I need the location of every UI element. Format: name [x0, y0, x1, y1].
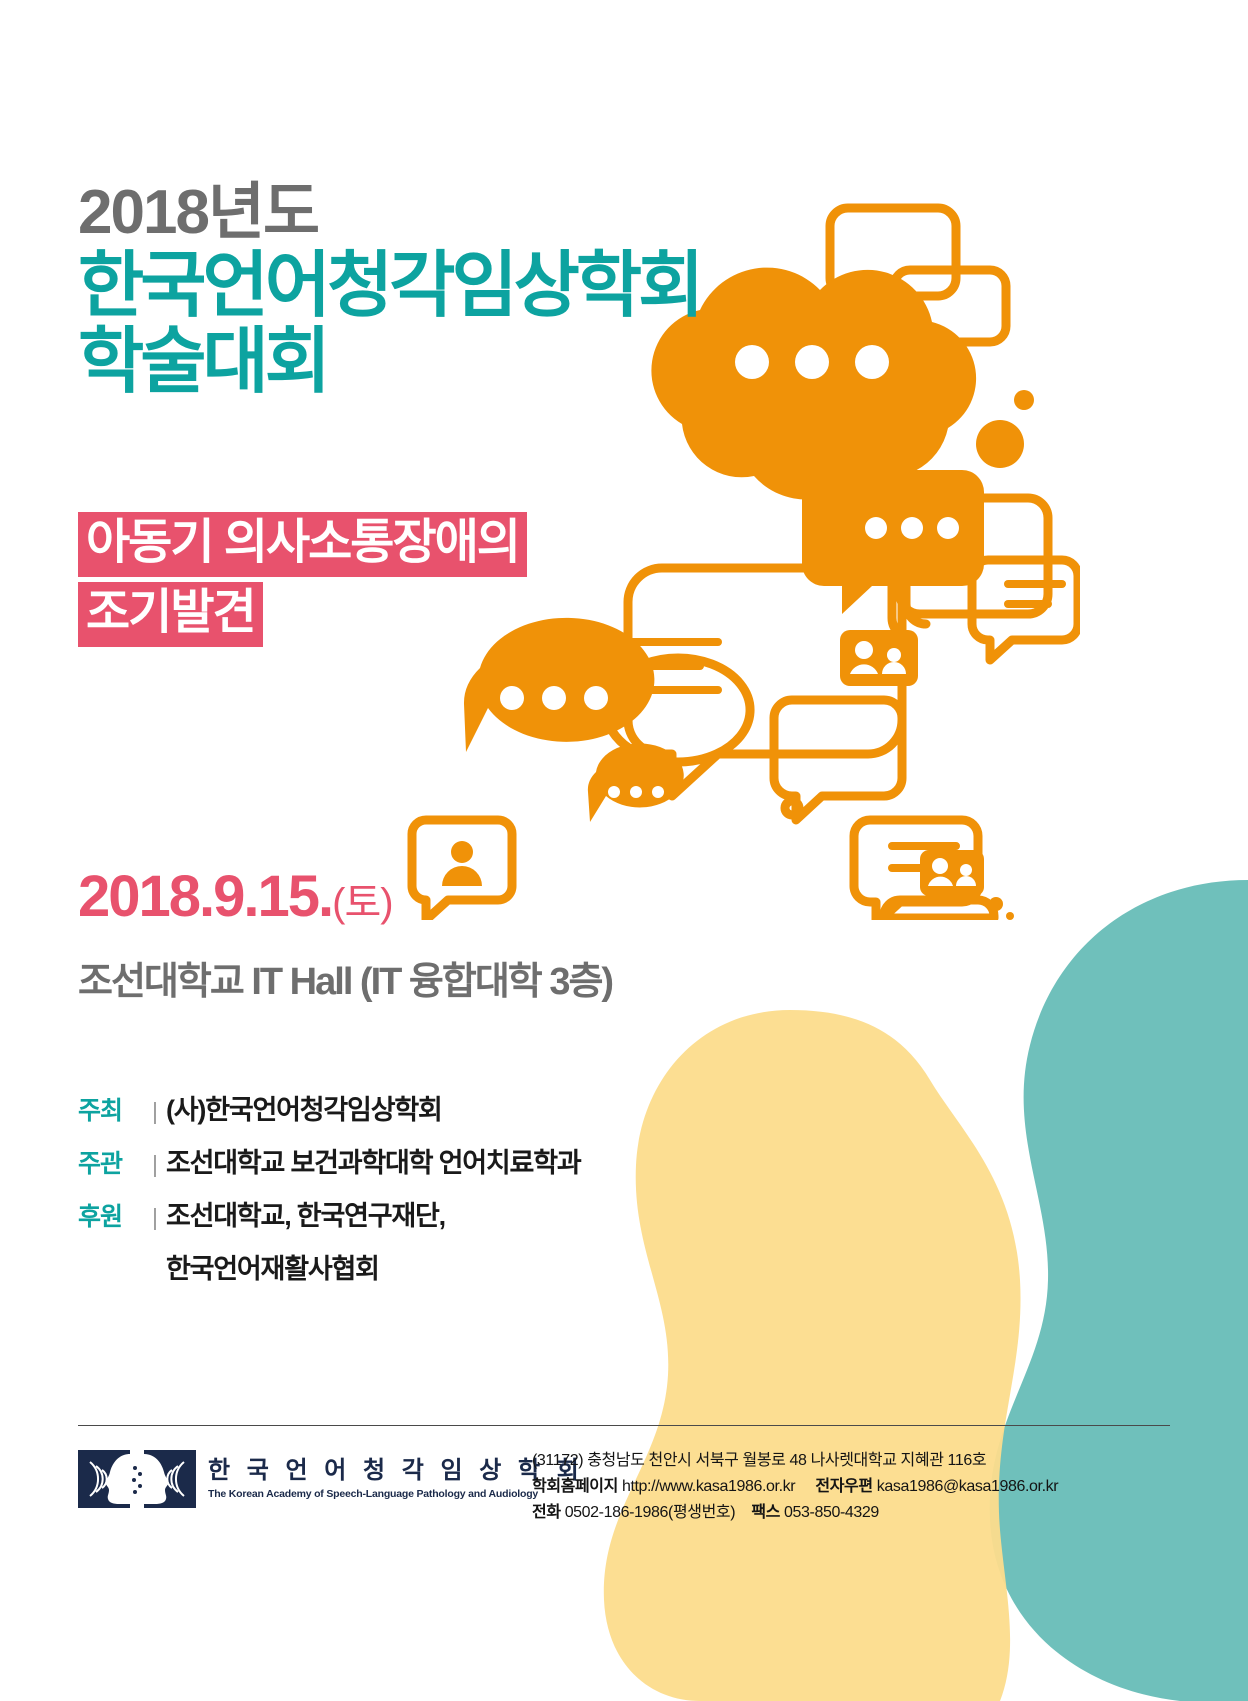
theme-line-2: 조기발견 [78, 582, 263, 647]
date-venue-block: 2018.9.15.(토) 조선대학교 IT Hall (IT 융합대학 3층) [78, 868, 758, 1005]
event-venue: 조선대학교 IT Hall (IT 융합대학 3층) [78, 950, 758, 1005]
credit-label-sponsor: 후원 [78, 1197, 144, 1233]
headline-block: 2018년도 한국언어청각임상학회 학술대회 [78, 182, 798, 401]
logo-text-block: 한 국 언 어 청 각 임 상 학 회 The Korean Academy o… [208, 1458, 584, 1499]
contact-fax-label: 팩스 [751, 1504, 780, 1521]
credit-separator: | [144, 1098, 166, 1125]
contact-phone-label: 전화 [532, 1504, 561, 1521]
headline-association: 한국언어청각임상학회 [78, 248, 798, 324]
credits-block: 주최 | (사)한국언어청각임상학회 주관 | 조선대학교 보건과학대학 언어치… [78, 1088, 698, 1286]
logo-korean-name: 한 국 언 어 청 각 임 상 학 회 [208, 1458, 584, 1484]
teal-blob [990, 880, 1248, 1701]
contact-email-value[interactable]: kasa1986@kasa1986.or.kr [877, 1478, 1058, 1495]
credit-row-host: 주최 | (사)한국언어청각임상학회 [78, 1088, 698, 1127]
credit-row-organizer: 주관 | 조선대학교 보건과학대학 언어치료학과 [78, 1141, 698, 1180]
association-logo: 한 국 언 어 청 각 임 상 학 회 The Korean Academy o… [78, 1448, 584, 1510]
contact-web-email: 학회홈페이지 http://www.kasa1986.or.kr 전자우편 ka… [532, 1474, 1172, 1500]
event-date: 2018.9.15. [78, 868, 332, 926]
credit-separator: | [144, 1151, 166, 1178]
contact-block: (31172) 충청남도 천안시 서북구 월봉로 48 나사렛대학교 지혜관 1… [532, 1448, 1172, 1526]
contact-homepage-value[interactable]: http://www.kasa1986.or.kr [622, 1478, 795, 1495]
contact-phone-value: 0502-186-1986(평생번호) [565, 1504, 735, 1521]
credit-row-sponsor: 후원 | 조선대학교, 한국연구재단, [78, 1194, 698, 1233]
credit-label-organizer: 주관 [78, 1144, 144, 1180]
headline-event: 학술대회 [78, 324, 798, 400]
contact-phone-fax: 전화 0502-186-1986(평생번호) 팩스 053-850-4329 [532, 1500, 1172, 1526]
poster-canvas: 2018년도 한국언어청각임상학회 학술대회 아동기 의사소통장애의 조기발견 … [0, 0, 1248, 1701]
people-card-icon [840, 630, 918, 686]
footer-divider [78, 1425, 1170, 1426]
contact-email-label: 전자우편 [815, 1478, 872, 1495]
logo-english-name: The Korean Academy of Speech-Language Pa… [208, 1488, 584, 1500]
headline-year: 2018년도 [78, 182, 798, 244]
credit-value-host: (사)한국언어청각임상학회 [166, 1088, 442, 1127]
theme-block: 아동기 의사소통장애의 조기발견 [78, 512, 638, 652]
credit-label-host: 주최 [78, 1091, 144, 1127]
people-card-icon-bottom [920, 850, 1014, 920]
contact-fax-value: 053-850-4329 [784, 1504, 879, 1521]
contact-address: (31172) 충청남도 천안시 서북구 월봉로 48 나사렛대학교 지혜관 1… [532, 1448, 1172, 1474]
credit-separator: | [144, 1204, 166, 1231]
speech-profiles-logo-icon [78, 1448, 196, 1510]
credit-value-sponsor-cont: 한국언어재활사협회 [78, 1247, 698, 1286]
contact-homepage-label: 학회홈페이지 [532, 1478, 618, 1495]
credit-value-organizer: 조선대학교 보건과학대학 언어치료학과 [166, 1141, 580, 1180]
theme-line-1: 아동기 의사소통장애의 [78, 512, 527, 577]
event-weekday: (토) [332, 870, 392, 928]
credit-value-sponsor: 조선대학교, 한국연구재단, [166, 1194, 445, 1233]
